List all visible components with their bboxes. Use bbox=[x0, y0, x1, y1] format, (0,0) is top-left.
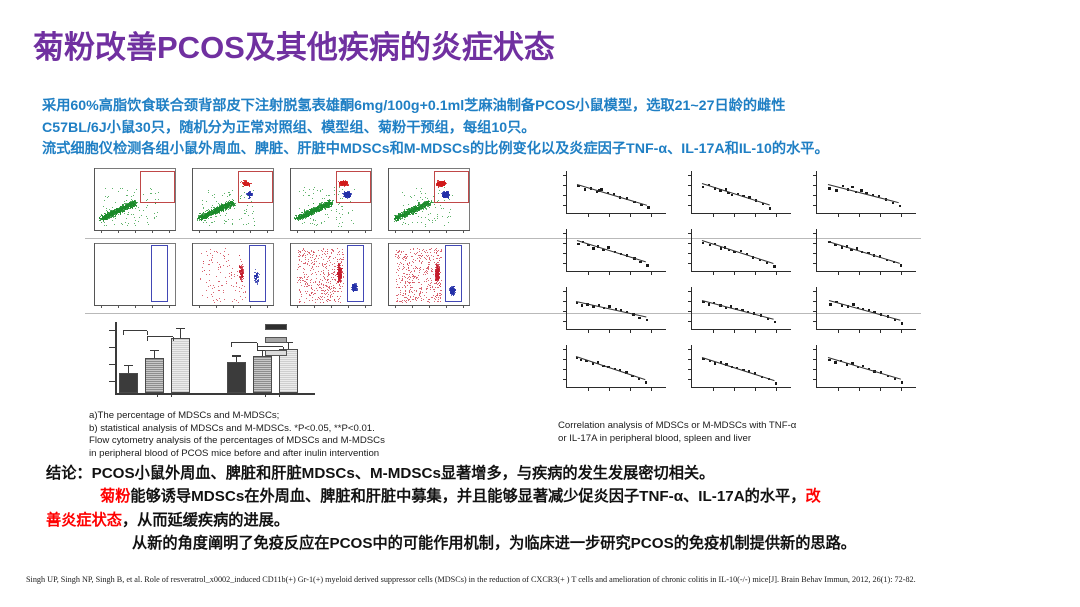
scatter-point bbox=[298, 267, 299, 268]
scatter-point bbox=[306, 293, 307, 294]
scatter-point bbox=[218, 269, 219, 270]
axis-tick bbox=[348, 230, 349, 233]
scatter-point bbox=[134, 192, 135, 193]
scatter-point bbox=[213, 285, 214, 286]
scatter-point bbox=[332, 291, 333, 292]
scatter-point bbox=[327, 214, 328, 215]
scatter-point bbox=[310, 270, 311, 271]
scatter-point bbox=[147, 205, 148, 206]
scatter-point bbox=[245, 297, 246, 298]
flow-cytometry-plot bbox=[388, 168, 470, 231]
scatter-point bbox=[219, 298, 220, 299]
axis-tick bbox=[216, 305, 217, 308]
scatter-point bbox=[243, 269, 244, 270]
scatter-point bbox=[432, 220, 433, 221]
scatter-point bbox=[223, 206, 224, 207]
scatter-point bbox=[235, 205, 236, 206]
scatter-point bbox=[450, 216, 451, 217]
scatter-point bbox=[339, 251, 340, 252]
scatter-point bbox=[335, 266, 336, 267]
scatter-point bbox=[301, 261, 302, 262]
scatter-point bbox=[223, 265, 224, 266]
scatter-point bbox=[130, 207, 131, 208]
scatter-point bbox=[343, 283, 344, 284]
scatter-point bbox=[209, 260, 210, 261]
scatter-point bbox=[307, 264, 308, 265]
scatter-point bbox=[219, 290, 220, 291]
scatter-point bbox=[217, 262, 218, 263]
scatter-point bbox=[297, 277, 298, 278]
scatter-point bbox=[224, 220, 225, 221]
scatter-point bbox=[298, 220, 299, 221]
scatter-point bbox=[312, 255, 313, 256]
scatter-point bbox=[211, 217, 212, 218]
scatter-point bbox=[304, 263, 305, 264]
scatter-point bbox=[301, 296, 302, 297]
scatter-point bbox=[408, 204, 409, 205]
scatter-point bbox=[305, 255, 306, 256]
scatter-point bbox=[304, 187, 305, 188]
scatter-point bbox=[234, 208, 235, 209]
scatter-point bbox=[323, 270, 324, 271]
scatter-point bbox=[319, 282, 320, 283]
scatter-point bbox=[431, 202, 432, 203]
scatter-point bbox=[342, 222, 343, 223]
scatter-point bbox=[119, 212, 120, 213]
scatter-point bbox=[300, 252, 301, 253]
scatter-point bbox=[311, 260, 312, 261]
scatter-point bbox=[318, 258, 319, 259]
scatter-point bbox=[324, 221, 325, 222]
scatter-point bbox=[327, 280, 328, 281]
scatter-point bbox=[327, 253, 328, 254]
scatter-point bbox=[139, 217, 140, 218]
scatter-point bbox=[227, 266, 228, 267]
scatter-point bbox=[315, 220, 316, 221]
scatter-point bbox=[329, 257, 330, 258]
scatter-point bbox=[335, 288, 336, 289]
scatter-point bbox=[202, 204, 203, 205]
scatter-point bbox=[210, 253, 211, 254]
scatter-point bbox=[114, 224, 115, 225]
scatter-point bbox=[325, 254, 326, 255]
scatter-point bbox=[304, 281, 305, 282]
scatter-point bbox=[318, 297, 319, 298]
scatter-point bbox=[106, 210, 107, 211]
scatter-point bbox=[125, 222, 126, 223]
scatter-point bbox=[413, 213, 414, 214]
scatter-point bbox=[200, 279, 201, 280]
scatter-point bbox=[303, 190, 304, 191]
scatter-point bbox=[333, 293, 334, 294]
scatter-point bbox=[414, 195, 415, 196]
scatter-point bbox=[313, 254, 314, 255]
flow-cytometry-row-1 bbox=[94, 168, 470, 231]
scatter-point bbox=[329, 195, 330, 196]
scatter-point bbox=[230, 208, 231, 209]
scatter-point bbox=[310, 210, 311, 211]
scatter-point bbox=[314, 212, 315, 213]
scatter-point bbox=[430, 205, 431, 206]
axis-tick bbox=[118, 305, 119, 308]
scatter-point bbox=[310, 223, 311, 224]
scatter-point bbox=[302, 278, 303, 279]
scatter-point bbox=[403, 205, 404, 206]
scatter-point bbox=[115, 218, 116, 219]
scatter-point bbox=[208, 215, 209, 216]
scatter-point bbox=[319, 284, 320, 285]
scatter-point bbox=[128, 223, 129, 224]
scatter-point bbox=[298, 218, 299, 219]
scatter-point bbox=[320, 299, 321, 300]
scatter-point bbox=[443, 208, 444, 209]
axis-tick bbox=[250, 305, 251, 308]
scatter-point bbox=[425, 224, 426, 225]
scatter-point bbox=[332, 264, 333, 265]
scatter-point bbox=[318, 207, 319, 208]
scatter-point bbox=[313, 294, 314, 295]
scatter-point bbox=[106, 215, 107, 216]
scatter-point bbox=[304, 302, 305, 303]
scatter-point bbox=[299, 259, 300, 260]
gate-red bbox=[238, 171, 273, 203]
scatter-point bbox=[231, 275, 232, 276]
scatter-point bbox=[124, 210, 125, 211]
scatter-point bbox=[239, 291, 240, 292]
scatter-point bbox=[155, 203, 156, 204]
scatter-point bbox=[222, 210, 223, 211]
scatter-point bbox=[305, 257, 306, 258]
scatter-point bbox=[316, 261, 317, 262]
scatter-point bbox=[407, 214, 408, 215]
scatter-point bbox=[423, 209, 424, 210]
scatter-point bbox=[333, 258, 334, 259]
scatter-point bbox=[437, 218, 438, 219]
scatter-point bbox=[305, 192, 306, 193]
scatter-point bbox=[336, 211, 337, 212]
scatter-point bbox=[243, 224, 244, 225]
scatter-point bbox=[300, 280, 301, 281]
scatter-point bbox=[154, 213, 155, 214]
scatter-point bbox=[225, 205, 226, 206]
scatter-point bbox=[135, 225, 136, 226]
scatter-point bbox=[236, 282, 237, 283]
scatter-point bbox=[224, 256, 225, 257]
scatter-point bbox=[409, 210, 410, 211]
scatter-point bbox=[318, 266, 319, 267]
scatter-point bbox=[203, 222, 204, 223]
scatter-point bbox=[312, 262, 313, 263]
scatter-point bbox=[214, 302, 215, 303]
scatter-point bbox=[339, 259, 340, 260]
gate-red bbox=[434, 171, 469, 203]
scatter-point bbox=[242, 299, 243, 300]
scatter-point bbox=[412, 222, 413, 223]
scatter-point bbox=[335, 301, 336, 302]
scatter-point bbox=[206, 222, 207, 223]
scatter-point bbox=[402, 192, 403, 193]
scatter-point bbox=[136, 206, 137, 207]
scatter-point bbox=[305, 251, 306, 252]
scatter-point bbox=[320, 279, 321, 280]
scatter-point bbox=[243, 292, 244, 293]
scatter-point bbox=[302, 250, 303, 251]
scatter-point bbox=[337, 296, 338, 297]
scatter-point bbox=[312, 300, 313, 301]
scatter-point bbox=[304, 253, 305, 254]
scatter-point bbox=[339, 223, 340, 224]
scatter-point bbox=[422, 211, 423, 212]
scatter-point bbox=[342, 209, 343, 210]
scatter-point bbox=[301, 294, 302, 295]
scatter-point bbox=[220, 267, 221, 268]
scatter-point bbox=[225, 215, 226, 216]
scatter-point bbox=[115, 202, 116, 203]
scatter-point bbox=[129, 203, 130, 204]
scatter-point bbox=[323, 266, 324, 267]
scatter-point bbox=[232, 268, 233, 269]
scatter-point bbox=[299, 256, 300, 257]
scatter-point bbox=[404, 219, 405, 220]
scatter-point bbox=[422, 199, 423, 200]
scatter-point bbox=[316, 278, 317, 279]
scatter-point bbox=[295, 215, 296, 216]
scatter-point bbox=[313, 193, 314, 194]
scatter-point bbox=[328, 294, 329, 295]
scatter-point bbox=[248, 223, 249, 224]
scatter-point bbox=[442, 216, 443, 217]
scatter-point bbox=[205, 211, 206, 212]
scatter-point bbox=[231, 272, 232, 273]
scatter-point bbox=[240, 296, 241, 297]
scatter-point bbox=[214, 287, 215, 288]
scatter-point bbox=[331, 273, 332, 274]
scatter-point bbox=[220, 215, 221, 216]
scatter-point bbox=[304, 277, 305, 278]
scatter-point bbox=[118, 191, 119, 192]
scatter-point bbox=[225, 208, 226, 209]
scatter-point bbox=[332, 269, 333, 270]
scatter-point bbox=[204, 270, 205, 271]
scatter-point bbox=[147, 218, 148, 219]
scatter-point bbox=[207, 212, 208, 213]
scatter-point bbox=[447, 217, 448, 218]
scatter-point bbox=[334, 271, 335, 272]
scatter-point bbox=[412, 214, 413, 215]
scatter-point bbox=[228, 219, 229, 220]
scatter-point bbox=[421, 188, 422, 189]
scatter-point bbox=[241, 261, 242, 262]
scatter-point bbox=[232, 301, 233, 302]
axis-tick bbox=[101, 305, 102, 308]
scatter-point bbox=[245, 292, 246, 293]
scatter-point bbox=[329, 260, 330, 261]
scatter-point bbox=[331, 253, 332, 254]
scatter-point bbox=[316, 288, 317, 289]
scatter-point bbox=[303, 217, 304, 218]
scatter-point bbox=[323, 285, 324, 286]
scatter-point bbox=[322, 205, 323, 206]
scatter-point bbox=[322, 293, 323, 294]
scatter-point bbox=[334, 272, 335, 273]
scatter-point bbox=[339, 254, 340, 255]
scatter-point bbox=[209, 264, 210, 265]
scatter-point bbox=[408, 224, 409, 225]
scatter-point bbox=[434, 204, 435, 205]
scatter-point bbox=[238, 302, 239, 303]
axis-tick bbox=[267, 305, 268, 308]
scatter-point bbox=[214, 197, 215, 198]
scatter-point bbox=[321, 288, 322, 289]
scatter-point bbox=[312, 297, 313, 298]
scatter-point bbox=[327, 251, 328, 252]
scatter-point bbox=[421, 205, 422, 206]
scatter-point bbox=[211, 259, 212, 260]
scatter-point bbox=[104, 200, 105, 201]
scatter-point bbox=[300, 301, 301, 302]
scatter-point bbox=[322, 280, 323, 281]
scatter-point bbox=[220, 301, 221, 302]
scatter-point bbox=[138, 207, 139, 208]
scatter-point bbox=[106, 219, 107, 220]
scatter-point bbox=[336, 217, 337, 218]
scatter-point bbox=[306, 274, 307, 275]
scatter-point bbox=[342, 252, 343, 253]
scatter-point bbox=[322, 254, 323, 255]
scatter-point bbox=[432, 222, 433, 223]
scatter-point bbox=[143, 210, 144, 211]
scatter-point bbox=[299, 299, 300, 300]
axis-tick bbox=[365, 230, 366, 233]
scatter-point bbox=[212, 288, 213, 289]
scatter-point bbox=[342, 254, 343, 255]
scatter-point bbox=[416, 188, 417, 189]
scatter-point bbox=[253, 211, 254, 212]
axis-tick bbox=[429, 230, 430, 233]
scatter-point bbox=[307, 215, 308, 216]
scatter-point bbox=[299, 279, 300, 280]
scatter-point bbox=[321, 210, 322, 211]
scatter-point bbox=[326, 293, 327, 294]
scatter-point bbox=[231, 202, 232, 203]
scatter-point bbox=[396, 221, 397, 222]
scatter-point bbox=[417, 222, 418, 223]
scatter-point bbox=[218, 286, 219, 287]
scatter-point bbox=[441, 208, 442, 209]
scatter-point bbox=[334, 187, 335, 188]
scatter-point bbox=[228, 260, 229, 261]
scatter-point bbox=[226, 261, 227, 262]
scatter-point bbox=[342, 286, 343, 287]
scatter-point bbox=[218, 281, 219, 282]
slide-root: 菊粉改善PCOS及其他疾病的炎症状态 采用60%高脂饮食联合颈背部皮下注射脱氢表… bbox=[0, 0, 1080, 607]
scatter-point bbox=[229, 273, 230, 274]
scatter-point bbox=[317, 299, 318, 300]
scatter-point bbox=[211, 222, 212, 223]
scatter-point bbox=[122, 212, 123, 213]
scatter-point bbox=[420, 191, 421, 192]
scatter-point bbox=[214, 221, 215, 222]
scatter-point bbox=[340, 288, 341, 289]
scatter-point bbox=[212, 296, 213, 297]
scatter-point bbox=[425, 193, 426, 194]
scatter-point bbox=[411, 197, 412, 198]
scatter-point bbox=[220, 272, 221, 273]
scatter-point bbox=[132, 200, 133, 201]
scatter-point bbox=[242, 281, 243, 282]
scatter-point bbox=[310, 282, 311, 283]
scatter-point bbox=[312, 223, 313, 224]
scatter-point bbox=[226, 283, 227, 284]
scatter-point bbox=[252, 213, 253, 214]
scatter-point bbox=[425, 217, 426, 218]
scatter-point bbox=[304, 269, 305, 270]
scatter-point bbox=[335, 257, 336, 258]
scatter-point bbox=[342, 214, 343, 215]
axis-tick bbox=[314, 230, 315, 233]
scatter-point bbox=[325, 290, 326, 291]
scatter-point bbox=[322, 198, 323, 199]
scatter-point bbox=[326, 263, 327, 264]
scatter-point bbox=[116, 214, 117, 215]
scatter-point bbox=[243, 266, 244, 267]
scatter-point bbox=[314, 261, 315, 262]
scatter-point bbox=[138, 221, 139, 222]
scatter-point bbox=[415, 205, 416, 206]
scatter-point bbox=[99, 220, 100, 221]
scatter-point bbox=[316, 274, 317, 275]
scatter-point bbox=[210, 249, 211, 250]
scatter-point bbox=[331, 294, 332, 295]
scatter-point bbox=[326, 256, 327, 257]
scatter-point bbox=[335, 291, 336, 292]
scatter-point bbox=[240, 259, 241, 260]
scatter-point bbox=[237, 271, 238, 272]
scatter-point bbox=[331, 252, 332, 253]
scatter-point bbox=[241, 279, 242, 280]
scatter-point bbox=[331, 204, 332, 205]
scatter-point bbox=[326, 268, 327, 269]
scatter-point bbox=[327, 261, 328, 262]
scatter-point bbox=[228, 209, 229, 210]
scatter-point bbox=[316, 212, 317, 213]
scatter-point bbox=[212, 262, 213, 263]
scatter-point bbox=[231, 206, 232, 207]
scatter-point bbox=[299, 208, 300, 209]
scatter-point bbox=[219, 204, 220, 205]
scatter-point bbox=[322, 189, 323, 190]
scatter-point bbox=[113, 217, 114, 218]
scatter-point bbox=[115, 215, 116, 216]
scatter-point bbox=[312, 257, 313, 258]
axis-tick bbox=[135, 230, 136, 233]
scatter-point bbox=[209, 270, 210, 271]
scatter-point bbox=[335, 280, 336, 281]
scatter-point bbox=[308, 252, 309, 253]
scatter-point bbox=[313, 282, 314, 283]
scatter-point bbox=[311, 288, 312, 289]
scatter-point bbox=[208, 286, 209, 287]
scatter-point bbox=[239, 255, 240, 256]
scatter-point bbox=[202, 271, 203, 272]
scatter-point bbox=[139, 210, 140, 211]
scatter-point bbox=[435, 220, 436, 221]
scatter-point bbox=[318, 271, 319, 272]
scatter-point bbox=[342, 249, 343, 250]
scatter-point bbox=[134, 217, 135, 218]
scatter-point bbox=[299, 191, 300, 192]
scatter-point bbox=[302, 217, 303, 218]
